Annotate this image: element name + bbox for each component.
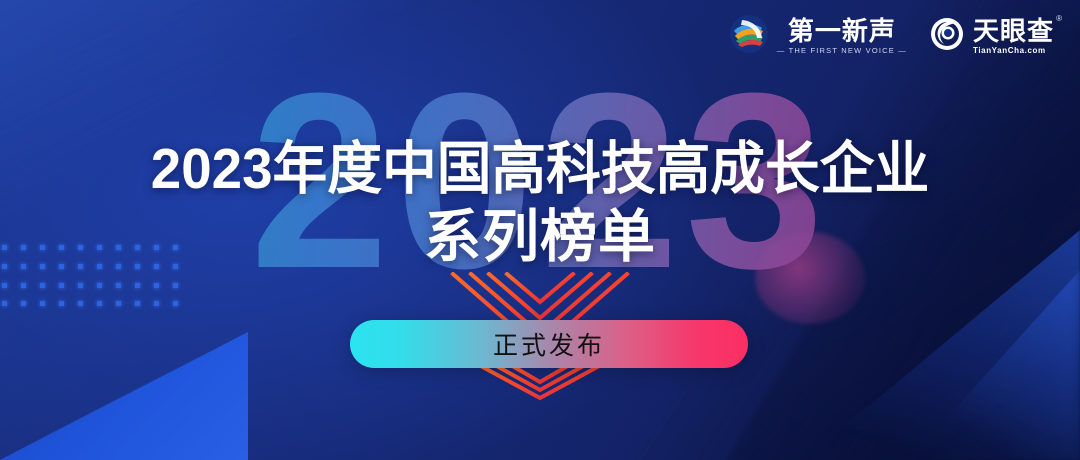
- release-status-label: 正式发布: [493, 326, 605, 362]
- aperture-eye-icon: [929, 16, 965, 57]
- triangle-decoration: [0, 332, 248, 460]
- ribbon-swirl-icon: [729, 14, 769, 59]
- logo-tianyancha[interactable]: ® 天眼查 TianYanCha.com: [929, 16, 1054, 57]
- triangle-decoration: [0, 328, 250, 460]
- release-status-badge[interactable]: 正式发布: [350, 320, 748, 368]
- page-title: 2023年度中国高科技高成长企业 系列榜单: [0, 136, 1080, 270]
- registered-trademark-icon: ®: [1056, 15, 1062, 23]
- logo-diyixinsheng[interactable]: 第一新声 — THE FIRST NEW VOICE —: [729, 14, 907, 59]
- logo-tianyancha-name: 天眼查: [973, 17, 1054, 45]
- logo-bar: 第一新声 — THE FIRST NEW VOICE — ® 天眼查 TianY…: [729, 14, 1054, 59]
- headline-line-2: 系列榜单: [0, 204, 1080, 270]
- logo-tianyancha-domain: TianYanCha.com: [973, 45, 1046, 56]
- promo-banner: 2023: [0, 0, 1080, 460]
- logo-diyixinsheng-tagline: — THE FIRST NEW VOICE —: [777, 45, 907, 56]
- headline-line-1: 2023年度中国高科技高成长企业: [22, 136, 1059, 202]
- logo-diyixinsheng-name: 第一新声: [788, 17, 896, 45]
